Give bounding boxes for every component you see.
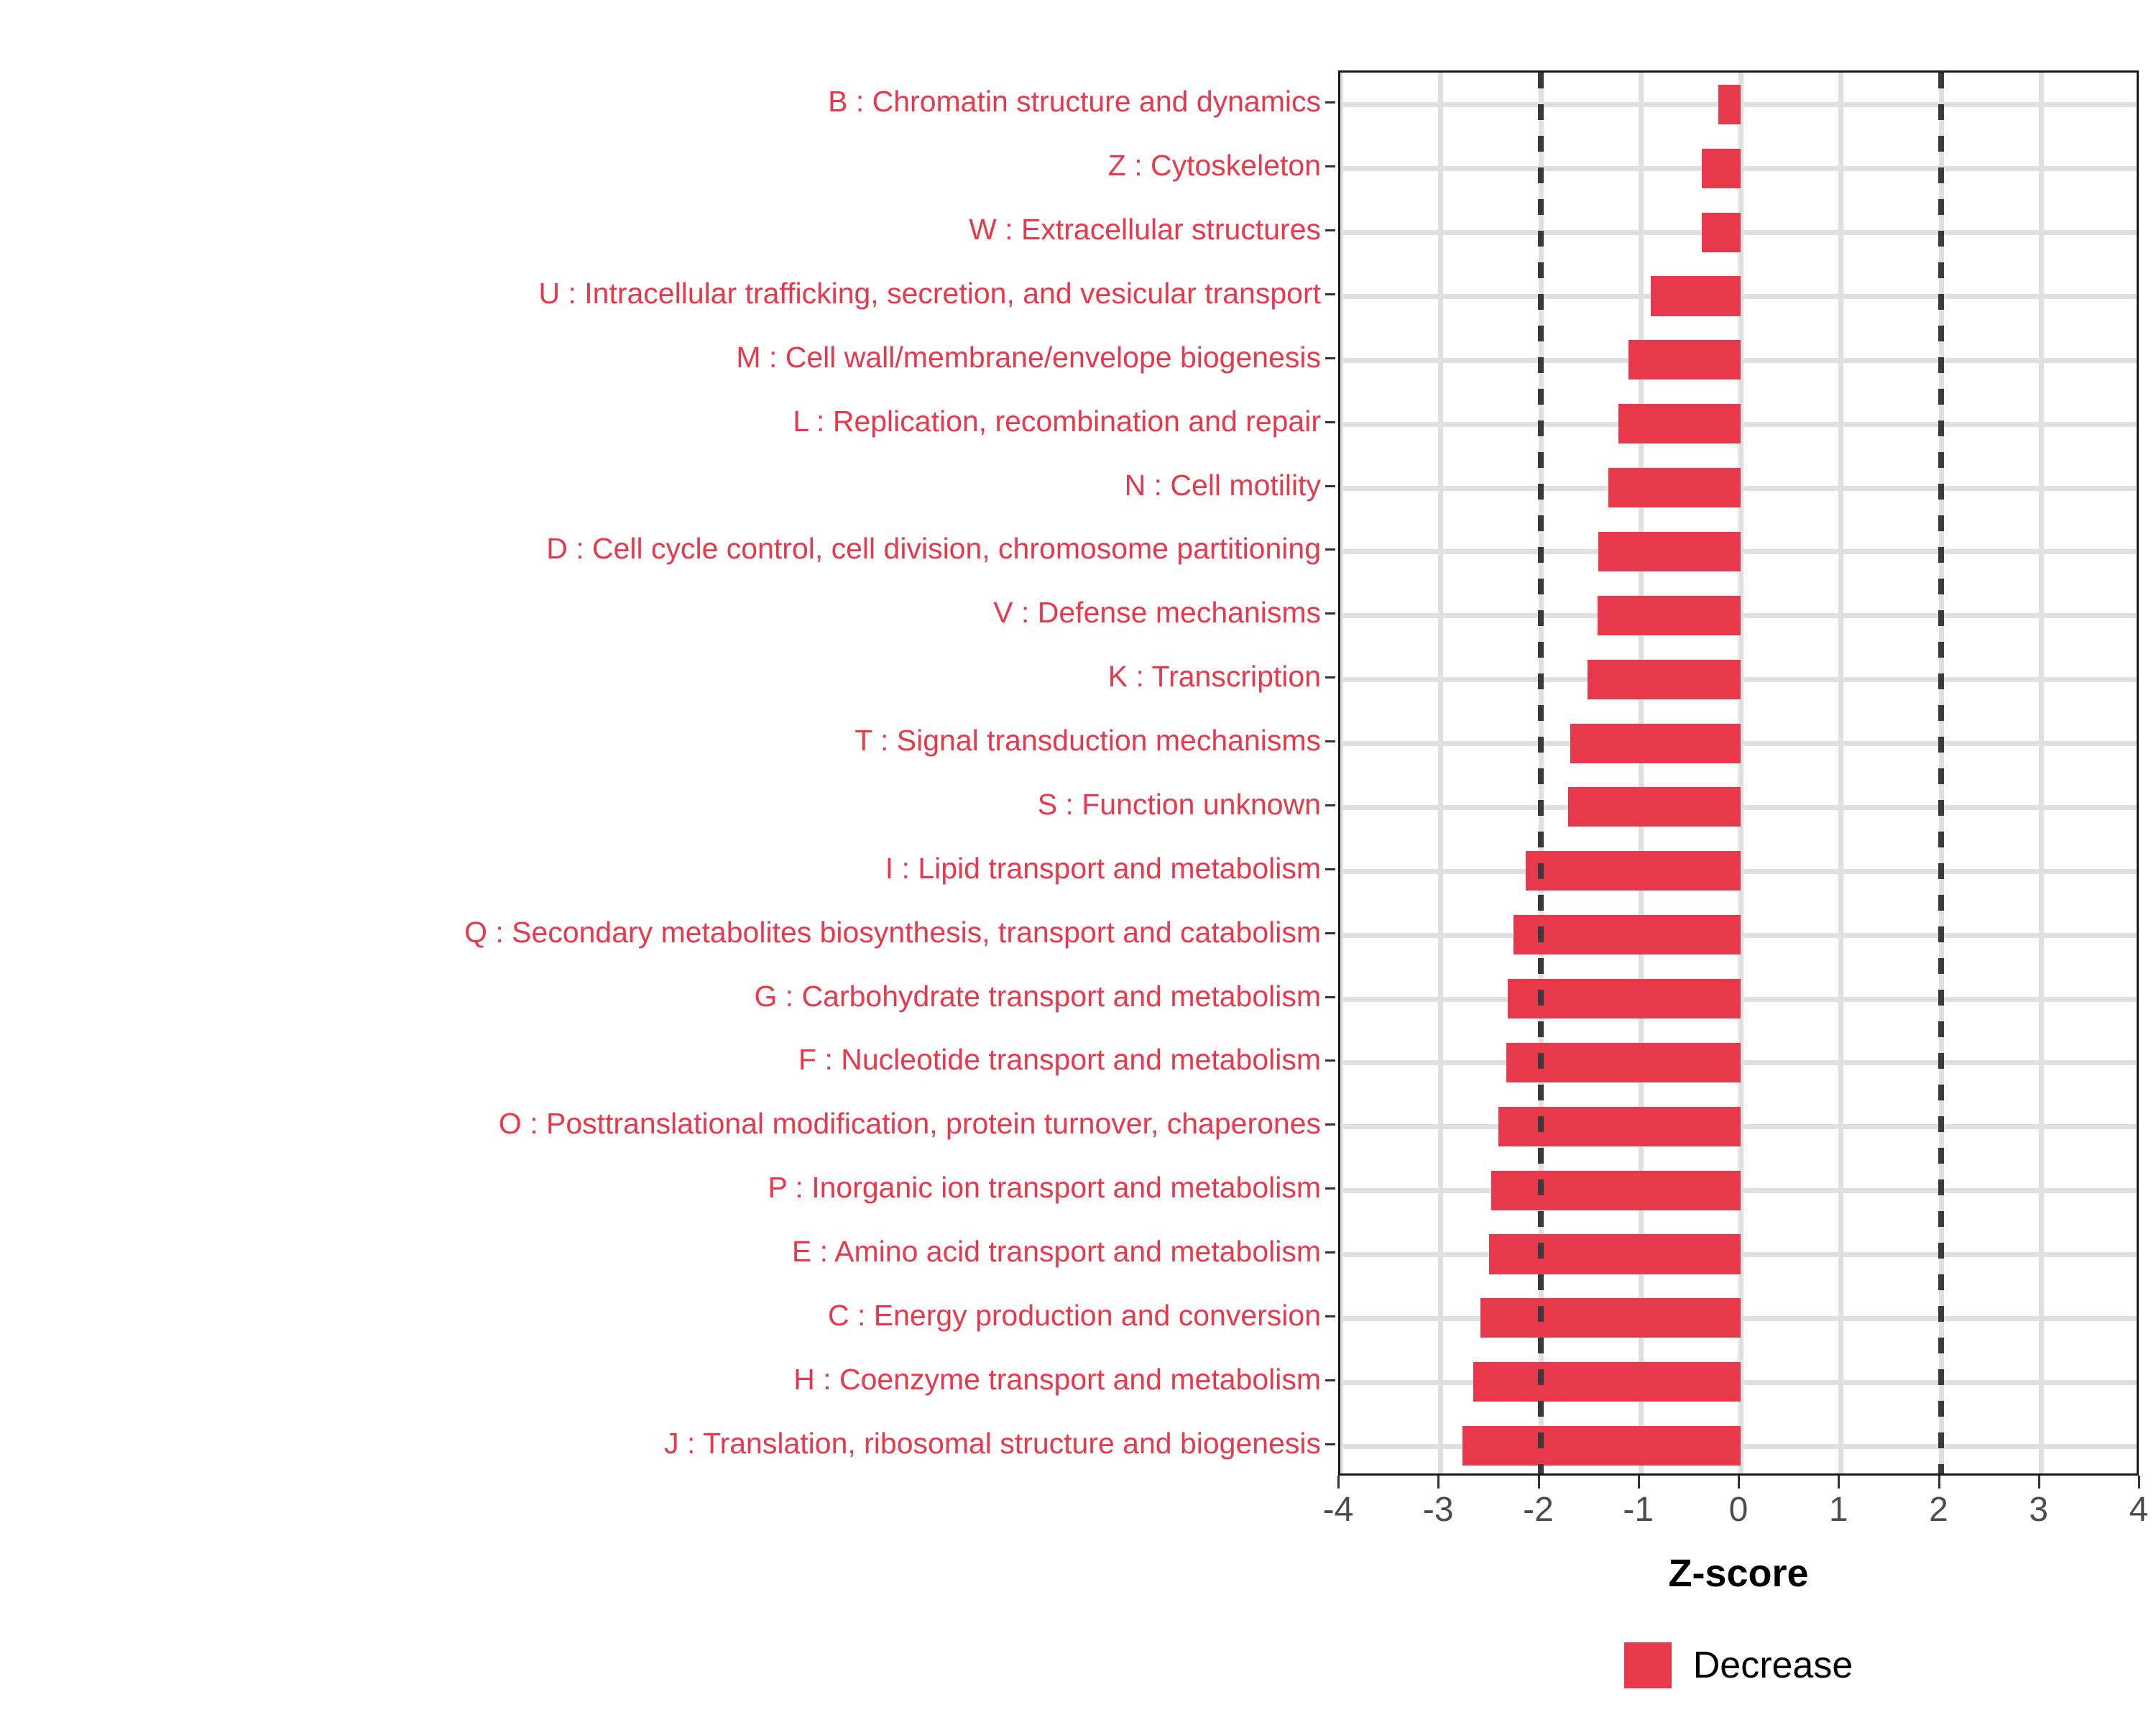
y-axis-label: G : Carbohydrate transport and metabolis…	[0, 982, 1321, 1011]
y-axis-tick	[1325, 548, 1335, 551]
reference-line	[1538, 73, 1544, 1473]
x-axis-tick-label: 2	[1929, 1491, 1948, 1529]
y-axis-tick	[1325, 1315, 1335, 1317]
legend-color-swatch-decrease	[1624, 1642, 1672, 1688]
y-axis-label: V : Defense mechanisms	[0, 598, 1321, 627]
y-axis-label: K : Transcription	[0, 662, 1321, 691]
y-axis-label: Z : Cytoskeleton	[0, 151, 1321, 180]
x-axis-tick-label: -3	[1423, 1491, 1454, 1529]
y-axis-tick	[1325, 101, 1335, 103]
bar	[1651, 276, 1741, 316]
vertical-gridline	[1340, 73, 1343, 1473]
y-axis-tick	[1325, 293, 1335, 295]
y-axis-tick	[1325, 165, 1335, 167]
legend-label-decrease: Decrease	[1693, 1647, 1853, 1684]
x-axis-tick	[1638, 1476, 1640, 1489]
x-axis-tick-label: 0	[1729, 1491, 1749, 1529]
x-axis-tick	[1838, 1476, 1840, 1489]
bar	[1498, 1107, 1741, 1146]
bar	[1618, 404, 1741, 443]
y-axis-tick	[1325, 421, 1335, 423]
y-axis-tick	[1325, 229, 1335, 231]
y-axis-label: T : Signal transduction mechanisms	[0, 726, 1321, 755]
bar	[1514, 915, 1741, 954]
y-axis-label: M : Cell wall/membrane/envelope biogenes…	[0, 343, 1321, 372]
y-axis-category-labels: B : Chromatin structure and dynamicsZ : …	[0, 70, 1321, 1476]
vertical-gridline	[2039, 73, 2044, 1473]
plot-area	[1340, 73, 2137, 1473]
x-axis-tick	[1337, 1476, 1340, 1489]
x-axis-tick	[2138, 1476, 2140, 1489]
x-axis-tick-label: 1	[1829, 1491, 1848, 1529]
x-axis-tick-label: -4	[1323, 1491, 1354, 1529]
x-axis-tick	[2038, 1476, 2040, 1489]
bar	[1718, 85, 1741, 124]
bar	[1473, 1362, 1741, 1402]
x-axis-tick-label: 4	[2129, 1491, 2149, 1529]
reference-line	[1938, 73, 1944, 1473]
bar	[1628, 340, 1741, 379]
bar	[1526, 851, 1741, 891]
x-axis-tick	[1538, 1476, 1540, 1489]
bar	[1598, 532, 1741, 571]
bar	[1702, 149, 1741, 188]
y-axis-tick	[1325, 357, 1335, 359]
y-axis-label: C : Energy production and conversion	[0, 1301, 1321, 1330]
y-axis-tick	[1325, 612, 1335, 615]
vertical-gridline	[1438, 73, 1443, 1473]
x-axis-tick	[1938, 1476, 1940, 1489]
y-axis-label: N : Cell motility	[0, 471, 1321, 500]
y-axis-tick	[1325, 740, 1335, 742]
y-axis-label: J : Translation, ribosomal structure and…	[0, 1429, 1321, 1458]
x-axis-title: Z-score	[1338, 1551, 2139, 1596]
bar	[1462, 1426, 1741, 1466]
bar	[1588, 660, 1741, 699]
y-axis-label: P : Inorganic ion transport and metaboli…	[0, 1173, 1321, 1202]
y-axis-tick	[1325, 1187, 1335, 1190]
y-axis-tick	[1325, 804, 1335, 806]
bar	[1598, 596, 1741, 635]
y-axis-tick	[1325, 1059, 1335, 1062]
plot-panel	[1338, 70, 2139, 1476]
y-axis-label: O : Posttranslational modification, prot…	[0, 1109, 1321, 1138]
bar	[1489, 1234, 1741, 1274]
x-axis-tick-label: -1	[1623, 1491, 1654, 1529]
y-axis-label: E : Amino acid transport and metabolism	[0, 1237, 1321, 1266]
y-axis-label: Q : Secondary metabolites biosynthesis, …	[0, 918, 1321, 947]
x-axis-tick	[1738, 1476, 1740, 1489]
y-axis-label: B : Chromatin structure and dynamics	[0, 87, 1321, 116]
y-axis-tick	[1325, 676, 1335, 678]
y-axis-tick	[1325, 932, 1335, 934]
y-axis-tick	[1325, 1443, 1335, 1445]
y-axis-label: U : Intracellular trafficking, secretion…	[0, 279, 1321, 308]
bar	[1608, 468, 1741, 507]
y-axis-label: F : Nucleotide transport and metabolism	[0, 1045, 1321, 1075]
x-axis-tick-label: 3	[2029, 1491, 2048, 1529]
y-axis-tick	[1325, 868, 1335, 870]
y-axis-label: I : Lipid transport and metabolism	[0, 854, 1321, 883]
y-axis-tick	[1325, 485, 1335, 487]
y-axis-label: H : Coenzyme transport and metabolism	[0, 1365, 1321, 1394]
y-axis-label: L : Replication, recombination and repai…	[0, 407, 1321, 436]
bar	[1702, 213, 1741, 252]
chart-legend: Decrease	[1338, 1633, 2139, 1698]
y-axis-tick	[1325, 996, 1335, 998]
bar	[1570, 724, 1741, 763]
y-axis-tick	[1325, 1251, 1335, 1253]
vertical-gridline	[1838, 73, 1843, 1473]
y-axis-label: S : Function unknown	[0, 790, 1321, 819]
bar	[1491, 1171, 1741, 1210]
y-axis-tick	[1325, 1123, 1335, 1126]
bar	[1568, 787, 1741, 827]
bar	[1480, 1298, 1741, 1338]
x-axis-tick	[1437, 1476, 1439, 1489]
y-axis-label: D : Cell cycle control, cell division, c…	[0, 534, 1321, 563]
chart-figure: B : Chromatin structure and dynamicsZ : …	[0, 0, 2156, 1725]
x-axis-tick-label: -2	[1523, 1491, 1554, 1529]
x-axis: -4-3-2-101234	[1338, 1476, 2139, 1562]
y-axis-label: W : Extracellular structures	[0, 215, 1321, 244]
y-axis-tick	[1325, 1379, 1335, 1381]
